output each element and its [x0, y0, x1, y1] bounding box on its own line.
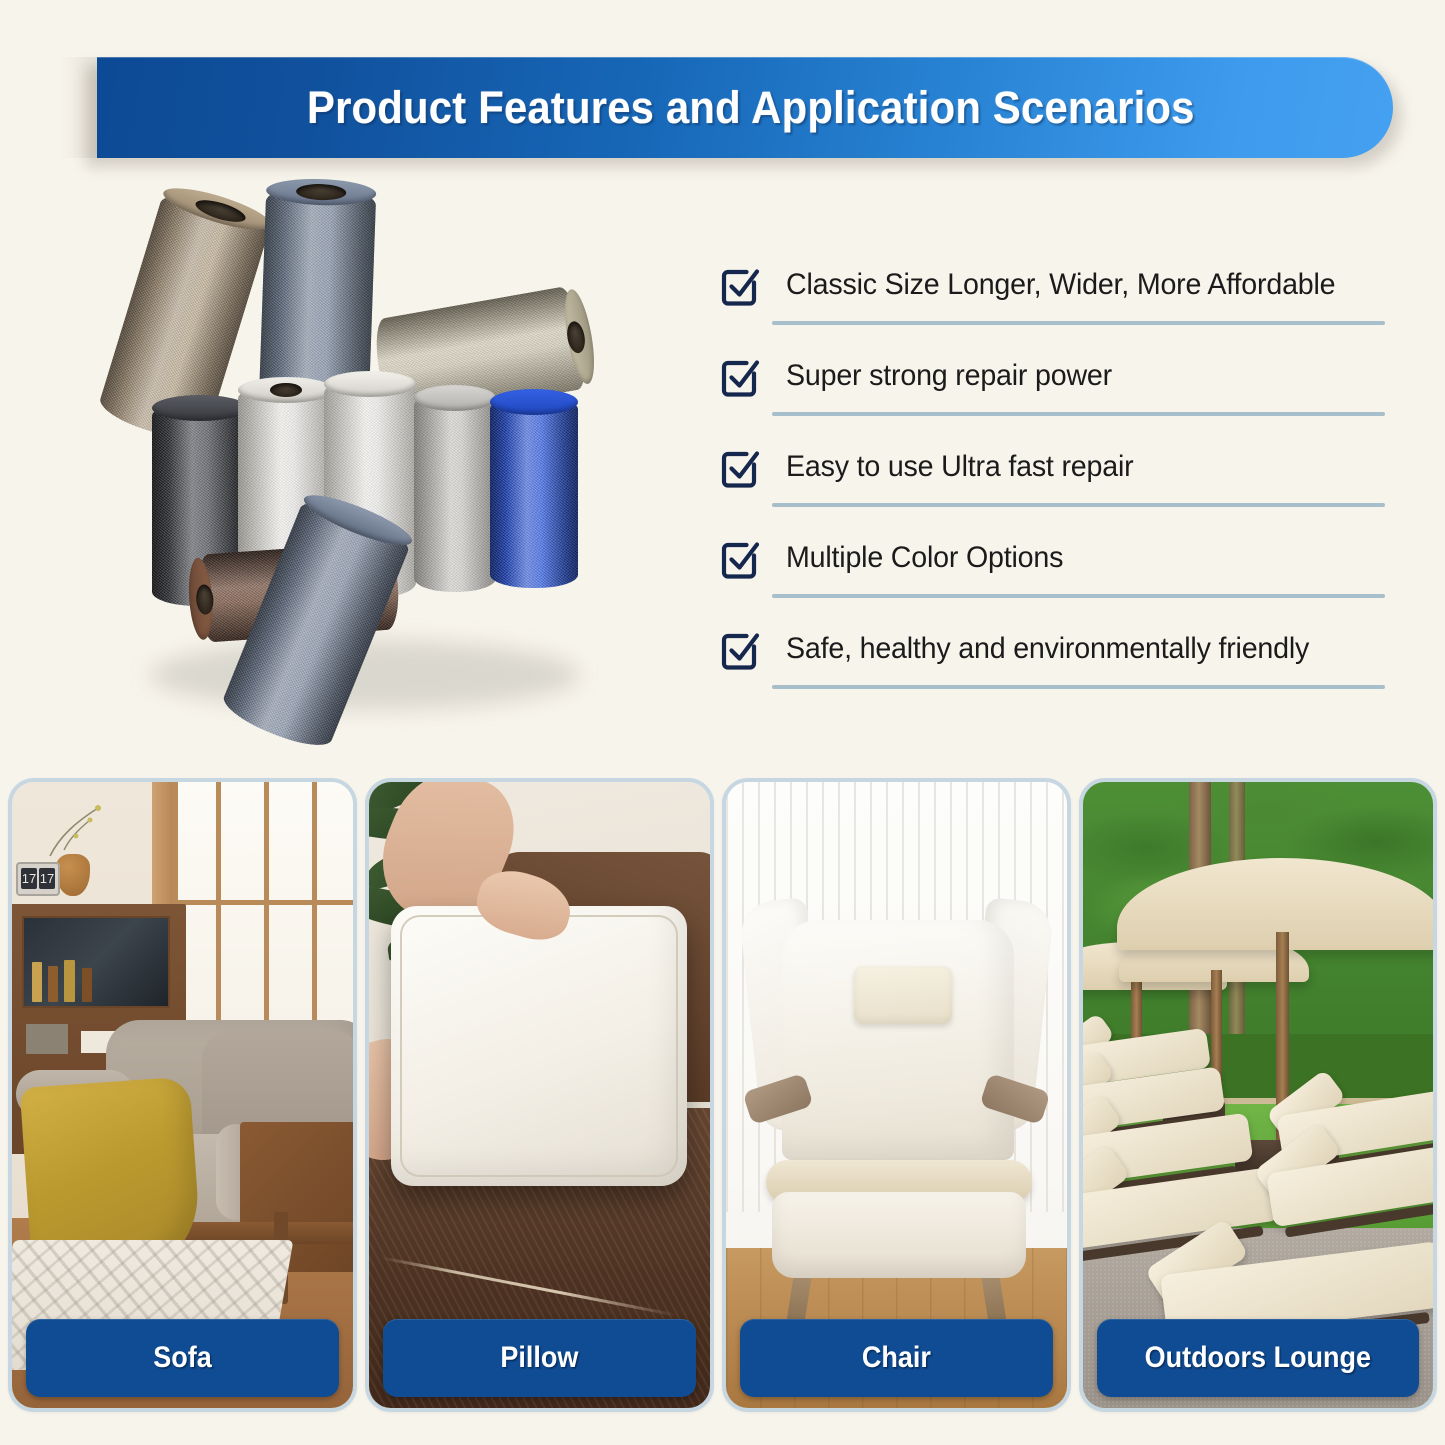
checkbox-check-icon [718, 354, 764, 400]
scene-living-room-sofa: 1717 [12, 782, 353, 1408]
headrest-pillow [854, 966, 952, 1024]
checkbox-check-icon [718, 536, 764, 582]
checkbox-check-icon [718, 445, 764, 491]
feature-label: Classic Size Longer, Wider, More Afforda… [786, 263, 1335, 307]
feature-label: Safe, healthy and environmentally friend… [786, 627, 1309, 671]
scenario-panel-chair[interactable]: Chair [722, 778, 1071, 1412]
checkbox-check-icon [718, 263, 764, 309]
scene-white-wing-chair [726, 782, 1067, 1408]
panel-label-chair: Chair [740, 1319, 1053, 1397]
white-pillow [391, 906, 687, 1186]
feature-divider [772, 685, 1385, 689]
panel-label-text: Pillow [500, 1341, 578, 1375]
feature-item: Easy to use Ultra fast repair [718, 437, 1408, 528]
feature-divider [772, 594, 1385, 598]
scenario-panel-sofa[interactable]: 1717 [8, 778, 357, 1412]
feature-divider [772, 503, 1385, 507]
panel-label-text: Chair [862, 1341, 931, 1375]
feature-label: Easy to use Ultra fast repair [786, 445, 1133, 489]
feature-item: Super strong repair power [718, 346, 1408, 437]
checkbox-check-icon [718, 627, 764, 673]
feature-divider [772, 321, 1385, 325]
scene-poolside-loungers [1083, 782, 1433, 1408]
scenario-panel-outdoors-lounge[interactable]: Outdoors Lounge [1079, 778, 1437, 1412]
scenario-panels: 1717 [0, 778, 1445, 1418]
feature-item: Safe, healthy and environmentally friend… [718, 619, 1408, 710]
panel-label-outdoors-lounge: Outdoors Lounge [1097, 1319, 1419, 1397]
panel-label-text: Outdoors Lounge [1145, 1341, 1371, 1375]
tape-roll-blue [490, 396, 578, 588]
panel-label-sofa: Sofa [26, 1319, 339, 1397]
scenario-panel-pillow[interactable]: Pillow [365, 778, 714, 1412]
tape-roll-light-gray [414, 392, 496, 592]
feature-label: Super strong repair power [786, 354, 1112, 398]
scene-hand-placing-pillow [369, 782, 710, 1408]
feature-item: Multiple Color Options [718, 528, 1408, 619]
header-banner: Product Features and Application Scenari… [0, 0, 1445, 185]
feature-label: Multiple Color Options [786, 536, 1063, 580]
feature-divider [772, 412, 1385, 416]
feature-item: Classic Size Longer, Wider, More Afforda… [718, 255, 1408, 346]
product-image-fabric-repair-tape-rolls [110, 180, 650, 740]
banner-bar: Product Features and Application Scenari… [97, 57, 1393, 158]
page-title: Product Features and Application Scenari… [296, 82, 1195, 134]
feature-list: Classic Size Longer, Wider, More Afforda… [718, 255, 1408, 710]
panel-label-text: Sofa [153, 1341, 212, 1375]
panel-label-pillow: Pillow [383, 1319, 696, 1397]
infographic-page: Product Features and Application Scenari… [0, 0, 1445, 1445]
